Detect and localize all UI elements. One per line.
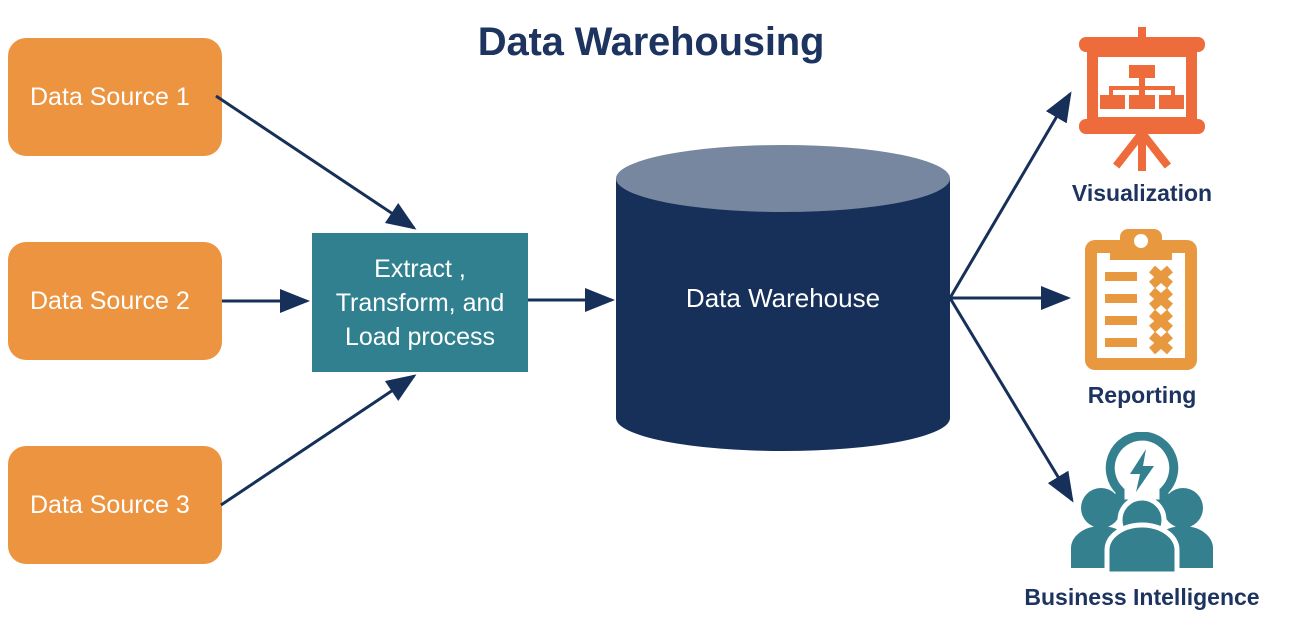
arrow-source1-to-etl [216,96,414,228]
data-source-1-box[interactable]: Data Source 1 [8,38,222,156]
diagram-canvas: Data Warehousing Data Source 1 Data Sour… [0,0,1302,642]
data-source-3-box[interactable]: Data Source 3 [8,446,222,564]
presentation-chart-icon [982,22,1302,174]
output-reporting[interactable]: Reporting [982,226,1302,409]
data-warehouse-label: Data Warehouse [616,145,950,451]
lightbulb-people-icon [982,432,1302,578]
output-business-intelligence[interactable]: Business Intelligence [982,432,1302,611]
output-visualization-label: Visualization [982,180,1302,207]
output-reporting-label: Reporting [982,382,1302,409]
output-visualization[interactable]: Visualization [982,22,1302,207]
etl-line-2: Transform, and [336,286,505,320]
arrow-source3-to-etl [221,376,414,505]
output-business-intelligence-label: Business Intelligence [982,584,1302,611]
etl-process-label: Extract , Transform, and Load process [336,252,505,354]
etl-process-box[interactable]: Extract , Transform, and Load process [312,233,528,372]
data-warehouse-cylinder[interactable]: Data Warehouse [616,145,950,451]
clipboard-checklist-icon [982,226,1302,376]
data-source-3-label: Data Source 3 [8,491,190,520]
etl-line-1: Extract , [336,252,505,286]
data-source-2-label: Data Source 2 [8,287,190,316]
etl-line-3: Load process [336,320,505,354]
data-source-1-label: Data Source 1 [8,83,190,112]
data-source-2-box[interactable]: Data Source 2 [8,242,222,360]
